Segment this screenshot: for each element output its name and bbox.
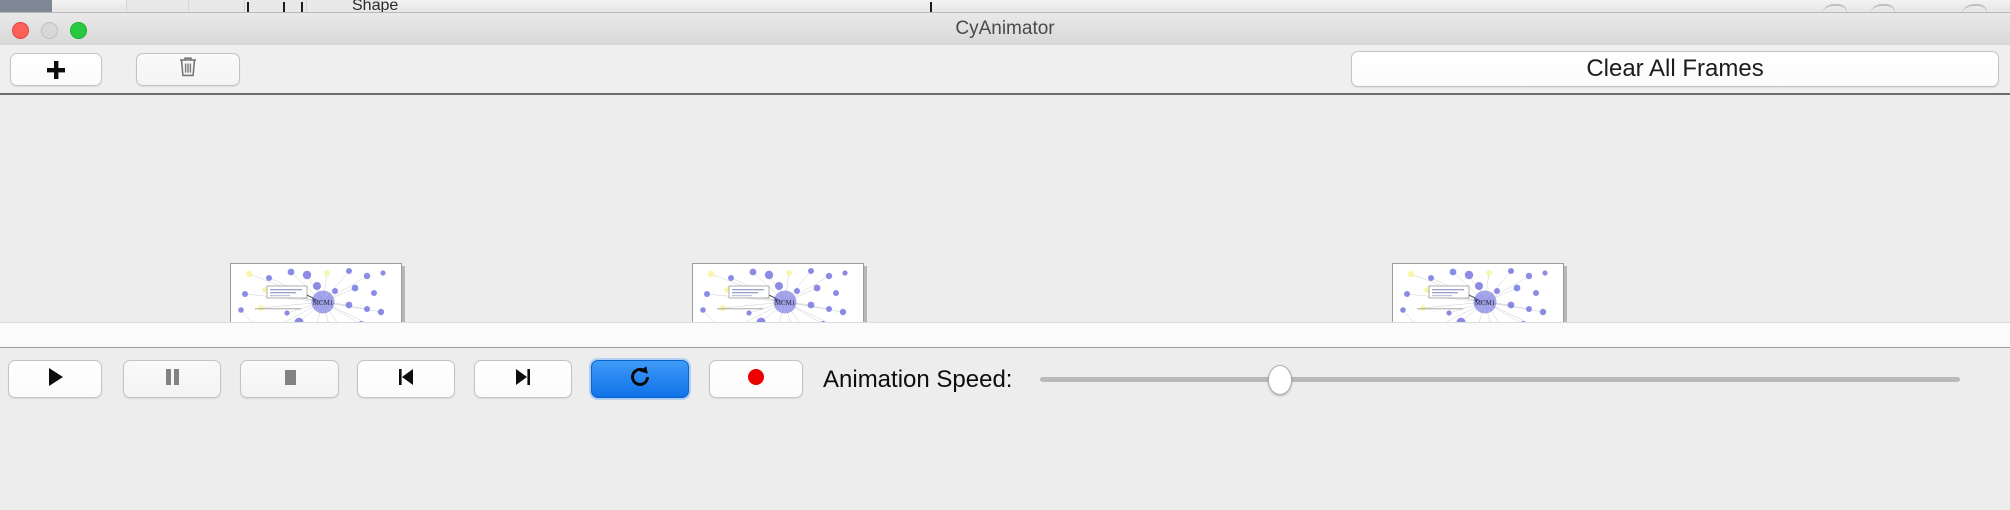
svg-text:MCM1: MCM1 <box>1475 299 1496 307</box>
add-frame-button[interactable] <box>10 53 102 86</box>
loop-button[interactable] <box>591 360 689 398</box>
window-title: CyAnimator <box>0 13 2010 45</box>
animation-speed-thumb[interactable] <box>1268 365 1292 395</box>
clear-all-frames-label: Clear All Frames <box>1586 55 1763 83</box>
svg-text:MCM1: MCM1 <box>313 299 334 307</box>
timeline-frame-thumbnail[interactable]: MCM1 <box>1392 263 1564 322</box>
pause-button[interactable] <box>123 360 221 398</box>
animation-speed-track[interactable] <box>1040 377 1960 382</box>
clear-all-frames-button[interactable]: Clear All Frames <box>1351 51 1999 87</box>
stop-icon <box>279 365 301 394</box>
skip-to-end-button[interactable] <box>474 360 572 398</box>
pause-icon <box>161 365 183 394</box>
toolbar: Clear All Frames <box>0 45 2010 95</box>
skip-to-start-button[interactable] <box>357 360 455 398</box>
background-window-strip: Shape <box>0 0 2010 13</box>
skip-to-start-icon <box>395 365 417 394</box>
timeline-frame-thumbnail[interactable]: MCM1 <box>230 263 402 322</box>
cyanimator-window: Shape CyAnimator <box>0 0 2010 510</box>
record-button[interactable] <box>709 360 803 398</box>
stop-button[interactable] <box>240 360 339 398</box>
trash-icon <box>177 55 199 85</box>
plus-icon <box>45 59 67 81</box>
animation-speed-slider[interactable] <box>1040 377 1960 382</box>
timeline-scrollbar-track[interactable] <box>0 322 2010 347</box>
skip-to-end-icon <box>512 365 534 394</box>
svg-text:MCM1: MCM1 <box>775 299 796 307</box>
play-button[interactable] <box>8 360 102 398</box>
timeline-frame-thumbnail[interactable]: MCM1 <box>692 263 864 322</box>
animation-speed-label: Animation Speed: <box>823 362 1012 398</box>
play-icon <box>44 365 66 394</box>
transport-bar: Animation Speed: <box>0 347 2010 510</box>
title-bar: CyAnimator <box>0 13 2010 46</box>
delete-frame-button[interactable] <box>136 53 240 86</box>
loop-icon <box>627 364 653 395</box>
timeline-panel[interactable]: 2131415161718 MCM1MCM1MCM1 Seconds <box>0 95 2010 322</box>
record-icon <box>745 366 767 393</box>
